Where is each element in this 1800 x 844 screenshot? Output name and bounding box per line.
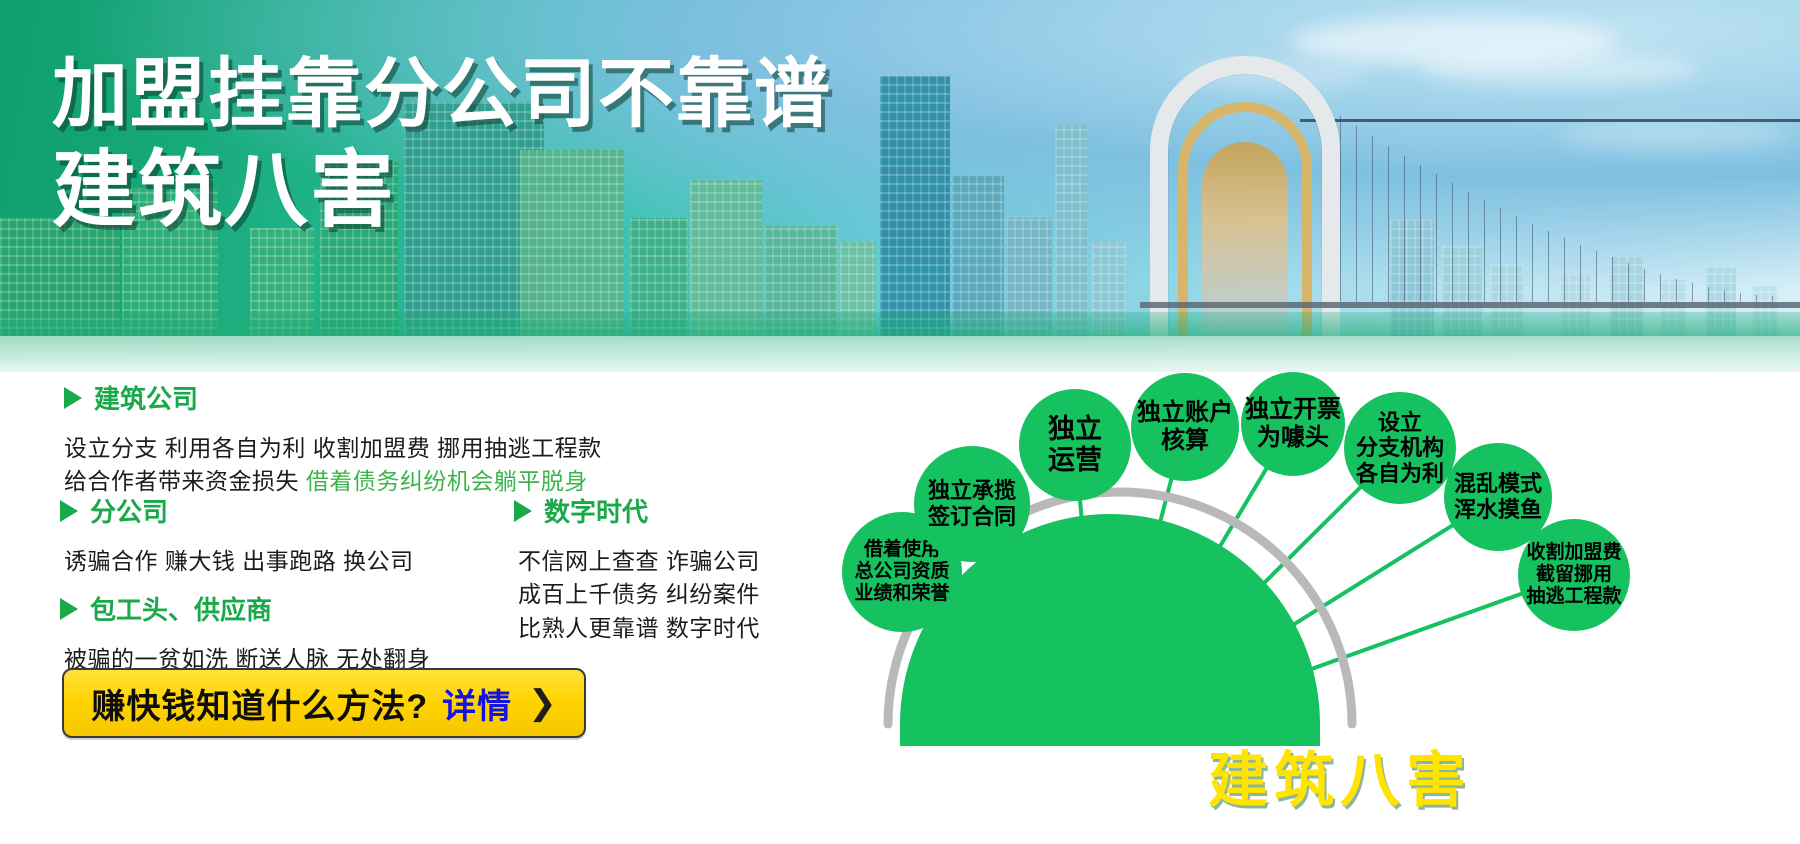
section-heading: 数字时代 bbox=[514, 492, 760, 529]
body-line-highlight: 借着债务纠纷机会躺平脱身 bbox=[306, 468, 588, 494]
body-line-text: 诱骗合作 赚大钱 出事跑路 换公司 bbox=[64, 548, 414, 574]
building-shape bbox=[1055, 124, 1087, 338]
section-body: 设立分支 利用各自为利 收割加盟费 挪用抽逃工程款 给合作者带来资金损失 借着债… bbox=[64, 432, 602, 499]
body-line-text: 不信网上查查 诈骗公司 bbox=[518, 548, 760, 574]
body-line: 比熟人更靠谱 数字时代 bbox=[518, 612, 760, 645]
left-content-panel: 建筑公司 设立分支 利用各自为利 收割加盟费 挪用抽逃工程款 给合作者带来资金损… bbox=[0, 380, 880, 844]
section-heading-label: 分公司 bbox=[90, 492, 168, 529]
triangle-bullet-icon bbox=[514, 500, 532, 522]
section-digital-era: 数字时代 不信网上查查 诈骗公司 成百上千债务 纠纷案件 比熟人更靠谱 数字时代 bbox=[514, 492, 760, 645]
section-heading: 建筑公司 bbox=[64, 379, 602, 416]
bubble-independent-contracting[interactable]: 独立承揽签订合同 bbox=[914, 446, 1030, 562]
page-title: 加盟挂靠分公司不靠谱 建筑八害 bbox=[52, 56, 832, 233]
bubble-label: 设立分支机构各自为利 bbox=[1356, 410, 1444, 487]
hero-ground-band bbox=[0, 312, 1800, 338]
bubble-label: 独立运营 bbox=[1048, 414, 1102, 477]
bridge-arch-core bbox=[1202, 142, 1288, 338]
hero-banner: 加盟挂靠分公司不靠谱 建筑八害 bbox=[0, 0, 1800, 372]
body-line-text: 给合作者带来资金损失 bbox=[64, 468, 306, 494]
section-contractor-supplier: 包工头、供应商 被骗的一贫如洗 断送人脉 无处翻身 bbox=[60, 590, 430, 676]
hero-title-line1: 加盟挂靠分公司不靠谱 bbox=[52, 56, 832, 134]
body-line: 不信网上查查 诈骗公司 bbox=[518, 545, 760, 578]
chevron-right-icon: ❯ bbox=[528, 686, 557, 720]
cta-question-label: 赚快钱知道什么方法? bbox=[91, 679, 428, 728]
section-body: 不信网上查查 诈骗公司 成百上千债务 纠纷案件 比熟人更靠谱 数字时代 bbox=[518, 545, 760, 645]
section-branch-company: 分公司 诱骗合作 赚大钱 出事跑路 换公司 bbox=[60, 492, 414, 578]
triangle-bullet-icon bbox=[64, 387, 82, 409]
section-construction-company: 建筑公司 设立分支 利用各自为利 收割加盟费 挪用抽逃工程款 给合作者带来资金损… bbox=[60, 379, 602, 499]
bubble-label: 独立开票为噱头 bbox=[1245, 396, 1341, 452]
bubble-harvest-franchise-fee[interactable]: 收割加盟费截留挪用抽逃工程款 bbox=[1518, 519, 1630, 631]
bubble-independent-invoicing[interactable]: 独立开票为噱头 bbox=[1241, 372, 1345, 476]
bubble-independent-operation[interactable]: 独立运营 bbox=[1019, 389, 1131, 501]
section-body: 诱骗合作 赚大钱 出事跑路 换公司 bbox=[64, 545, 414, 578]
body-line-text: 成百上千债务 纠纷案件 bbox=[518, 581, 760, 607]
bubble-label: 独立账户核算 bbox=[1137, 399, 1233, 455]
section-heading-label: 数字时代 bbox=[544, 492, 648, 529]
bubble-label: 独立承揽签订合同 bbox=[928, 478, 1016, 529]
body-line: 设立分支 利用各自为利 收割加盟费 挪用抽逃工程款 bbox=[64, 432, 602, 465]
triangle-bullet-icon bbox=[60, 598, 78, 620]
bubble-label: 收割加盟费截留挪用抽逃工程款 bbox=[1526, 542, 1621, 608]
poster-root: 加盟挂靠分公司不靠谱 建筑八害 建筑公司 设立分支 利用各自为利 收割加盟费 挪… bbox=[0, 0, 1800, 844]
hero-title-line2: 建筑八害 bbox=[52, 148, 832, 234]
section-heading: 分公司 bbox=[60, 492, 414, 529]
liede-bridge-illustration bbox=[1150, 46, 1800, 338]
section-heading: 包工头、供应商 bbox=[60, 590, 430, 627]
body-line: 诱骗合作 赚大钱 出事跑路 换公司 bbox=[64, 545, 414, 578]
cta-link-label[interactable]: 详情 bbox=[442, 679, 512, 728]
hero-bottom-band bbox=[0, 336, 1800, 372]
bubble-set-up-branches[interactable]: 设立分支机构各自为利 bbox=[1344, 392, 1456, 504]
section-heading-label: 包工头、供应商 bbox=[90, 590, 272, 627]
body-line: 成百上千债务 纠纷案件 bbox=[518, 578, 760, 611]
bubble-independent-account[interactable]: 独立账户核算 bbox=[1131, 373, 1239, 481]
section-heading-label: 建筑公司 bbox=[94, 379, 198, 416]
bridge-deck bbox=[1140, 302, 1800, 308]
bubble-label: 混乱模式浑水摸鱼 bbox=[1454, 471, 1542, 522]
bridge-main-cable bbox=[1300, 119, 1800, 302]
body-line-text: 比熟人更靠谱 数字时代 bbox=[518, 615, 760, 641]
building-shape bbox=[880, 76, 950, 338]
cta-button[interactable]: 赚快钱知道什么方法? 详情 ❯ bbox=[62, 668, 586, 738]
eight-harms-diagram: 建筑八害 借着使用总公司资质业绩和荣誉独立承揽签订合同独立运营独立账户核算独立开… bbox=[880, 372, 1800, 844]
dome-center-label: 建筑八害 bbox=[880, 732, 1800, 819]
triangle-bullet-icon bbox=[60, 500, 78, 522]
body-line-text: 设立分支 利用各自为利 收割加盟费 挪用抽逃工程款 bbox=[64, 435, 602, 461]
